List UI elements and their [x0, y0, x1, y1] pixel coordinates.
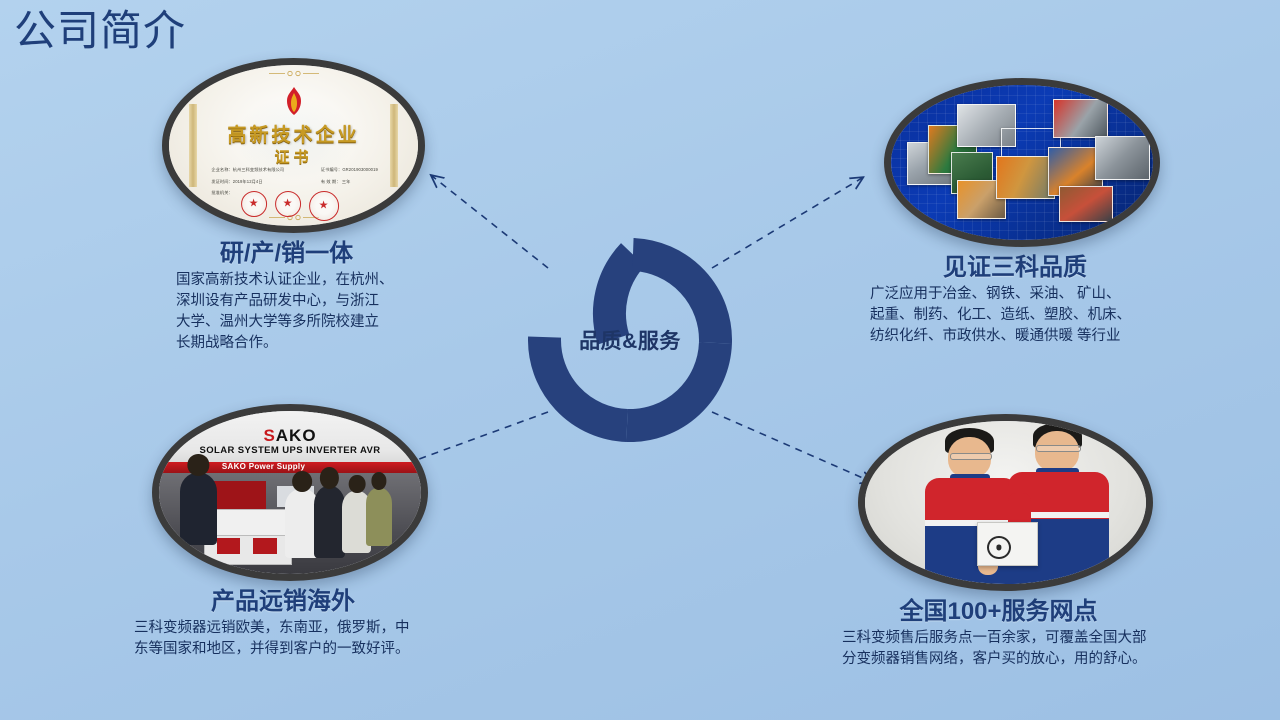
booth-product-display — [253, 538, 277, 554]
node-body-line: 长期战略合作。 — [176, 333, 462, 354]
booth-visitor — [180, 473, 217, 545]
expo-booth-photo: SAKO SOLAR SYSTEM UPS INVERTER AVR SAKO … — [159, 411, 421, 574]
page-title: 公司简介 — [14, 8, 186, 54]
booth-brand-initial: S — [263, 426, 275, 445]
red-seal-icon — [309, 191, 339, 221]
certificate-fine-print: 证书编号：GR201903000019 — [321, 167, 378, 173]
collage-photo — [1095, 136, 1149, 180]
safety-glasses-icon — [950, 453, 992, 460]
red-seal-icon — [241, 191, 267, 217]
booth-brand-label: SAKO — [159, 426, 421, 446]
node-body-line: 国家高新技术认证企业，在杭州、 — [176, 270, 462, 291]
booth-brand-rest: AKO — [276, 426, 317, 445]
booth-sub-label: SAKO Power Supply — [222, 462, 305, 471]
node-body-line: 三科变频器远销欧美，东南亚，俄罗斯，中 — [134, 618, 448, 639]
flame-emblem-icon — [281, 86, 307, 116]
node-title: 研/产/销一体 — [162, 240, 411, 268]
node-title: 产品远销海外 — [128, 588, 438, 616]
node-nationwide-service-points[interactable]: 全国100+服务网点 三科变频售后服务点一百余家，可覆盖全国大部 分变频器销售网… — [836, 414, 1196, 670]
certificate-seals — [241, 191, 339, 221]
expo-booth-oval-image: SAKO SOLAR SYSTEM UPS INVERTER AVR SAKO … — [152, 404, 428, 581]
node-products-exported-overseas[interactable]: SAKO SOLAR SYSTEM UPS INVERTER AVR SAKO … — [128, 404, 448, 660]
inverter-device — [977, 522, 1038, 566]
node-body-line: 东等国家和地区，并得到客户的一致好评。 — [134, 639, 448, 660]
technicians-photo — [865, 421, 1146, 584]
node-body-line: 三科变频售后服务点一百余家，可覆盖全国大部 — [842, 628, 1196, 649]
booth-visitor — [366, 488, 392, 547]
hub-label: 品质&服务 — [528, 238, 732, 442]
center-hub: 品质&服务 — [528, 238, 732, 442]
certificate-fine-print: 企业名称：杭州三科变频技术有限公司 — [211, 167, 284, 173]
collage-photo — [1059, 186, 1113, 222]
node-body: 国家高新技术认证企业，在杭州、 深圳设有产品研发中心，与浙江 大学、温州大学等多… — [162, 270, 462, 354]
safety-glasses-icon — [1036, 445, 1081, 452]
certificate-fine-print: 发证时间：2019年12月4日 — [211, 179, 262, 185]
booth-visitor — [314, 486, 345, 558]
collage-photo — [996, 156, 1056, 198]
certificate-fine-print: 批准机关： — [211, 190, 232, 196]
collage-photo — [1053, 99, 1107, 138]
certificate-oval-image: 高新技术企业 证书 企业名称：杭州三科变频技术有限公司 发证时间：2019年12… — [162, 58, 425, 233]
connector-to-top-right — [712, 178, 862, 268]
industrial-collage-oval-image — [884, 78, 1160, 247]
node-body: 三科变频器远销欧美，东南亚，俄罗斯，中 东等国家和地区，并得到客户的一致好评。 — [128, 618, 448, 660]
node-research-production-sales[interactable]: 高新技术企业 证书 企业名称：杭州三科变频技术有限公司 发证时间：2019年12… — [162, 58, 462, 354]
technicians-oval-image — [858, 414, 1153, 591]
node-body-line: 广泛应用于冶金、钢铁、采油、 矿山、 — [870, 284, 1202, 305]
node-body-line: 分变频器销售网络，客户买的放心，用的舒心。 — [842, 649, 1196, 670]
industrial-collage-photo — [891, 85, 1153, 240]
certificate-main-title: 高新技术企业 — [169, 120, 418, 147]
node-title: 见证三科品质 — [862, 254, 1168, 282]
node-title: 全国100+服务网点 — [836, 598, 1161, 626]
certificate-photo: 高新技术企业 证书 企业名称：杭州三科变频技术有限公司 发证时间：2019年12… — [169, 65, 418, 226]
node-body: 广泛应用于冶金、钢铁、采油、 矿山、 起重、制药、化工、造纸、塑胶、机床、 纺织… — [862, 284, 1202, 347]
node-body-line: 大学、温州大学等多所院校建立 — [176, 312, 462, 333]
red-seal-icon — [275, 191, 301, 217]
node-body: 三科变频售后服务点一百余家，可覆盖全国大部 分变频器销售网络，客户买的放心，用的… — [836, 628, 1196, 670]
certificate-ornament-top-icon — [267, 70, 321, 77]
node-body-line: 深圳设有产品研发中心，与浙江 — [176, 291, 462, 312]
node-body-line: 起重、制药、化工、造纸、塑胶、机床、 — [870, 305, 1202, 326]
certificate-fine-print: 有 效 期： 三年 — [321, 179, 351, 185]
node-body-line: 纺织化纤、市政供水、暖通供暖 等行业 — [870, 326, 1202, 347]
device-fan-icon — [987, 536, 1011, 559]
booth-product-display — [209, 481, 267, 509]
certificate-sub-title: 证书 — [169, 146, 418, 167]
booth-display-case — [211, 509, 286, 537]
booth-product-display — [217, 538, 241, 554]
node-witness-sanke-quality[interactable]: 见证三科品质 广泛应用于冶金、钢铁、采油、 矿山、 起重、制药、化工、造纸、塑胶… — [862, 78, 1202, 347]
